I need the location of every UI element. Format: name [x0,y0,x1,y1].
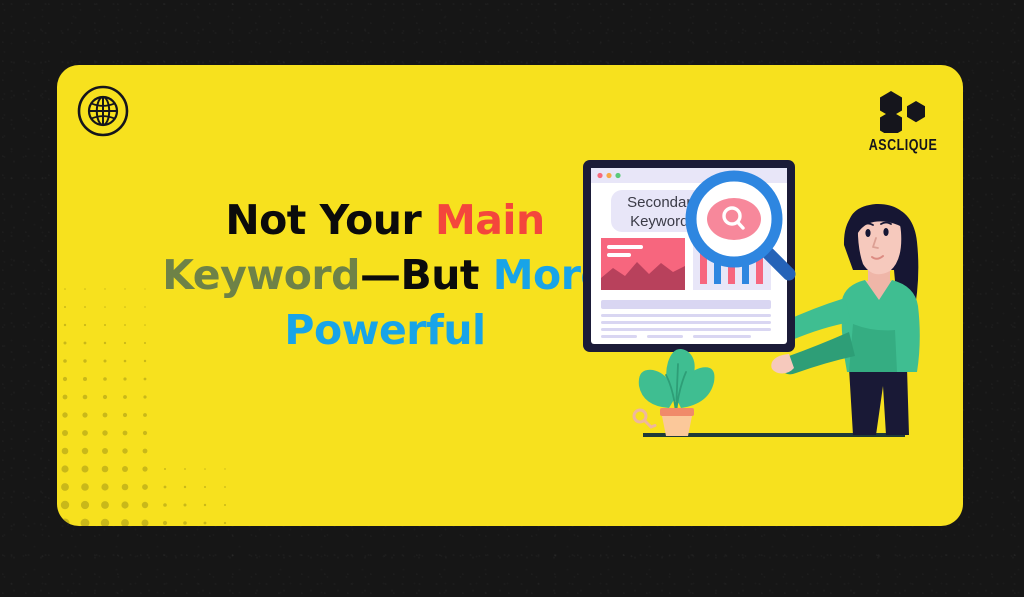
headline-word-main: Main [435,196,545,244]
plant-pot [662,416,692,436]
text-line-1 [601,314,771,317]
honeycomb-hexagons-icon [876,89,930,133]
text-line-4 [601,335,637,338]
text-line-3 [601,328,771,331]
headline-word-powerful: Powerful [284,306,485,354]
decor-magnifier-icon-left [634,410,655,427]
person-sweater-shade [849,324,897,372]
headline-word-keyword: Keyword [162,251,360,299]
headline-line-2: Keyword—But More [130,248,640,303]
text-line-6 [693,335,751,338]
bar-4 [742,264,749,284]
headline-line-3: Powerful [130,303,640,358]
seo-keyword-research-illustration: Secondary Keywords [577,150,947,510]
potted-plant [639,349,715,436]
plant-pot-rim [660,408,694,416]
headline-word-not-your: Not Your [225,196,435,244]
area-chart [601,238,685,290]
minimize-dot [606,173,611,178]
text-line-2 [601,321,771,324]
headline-word-but: —But [360,251,493,299]
text-line-block [601,300,771,309]
headline-line-1: Not Your Main [130,193,640,248]
area-chart-legend-bar-2 [607,253,631,257]
text-line-5 [647,335,683,338]
brand-logo[interactable]: ASCLIQUE [867,89,939,150]
yellow-banner-card: ASCLIQUE Not Your Main Keyword—But More … [57,65,963,526]
area-chart-legend-bar-1 [607,245,643,249]
magnifier-inner-blob [707,198,761,240]
close-dot [597,173,602,178]
person-pants [849,368,909,435]
person-eye-left [865,229,870,237]
maximize-dot [615,173,620,178]
page-title: Not Your Main Keyword—But More Powerful [130,193,640,358]
globe-icon[interactable] [77,85,129,137]
person-eye-right [883,228,888,236]
